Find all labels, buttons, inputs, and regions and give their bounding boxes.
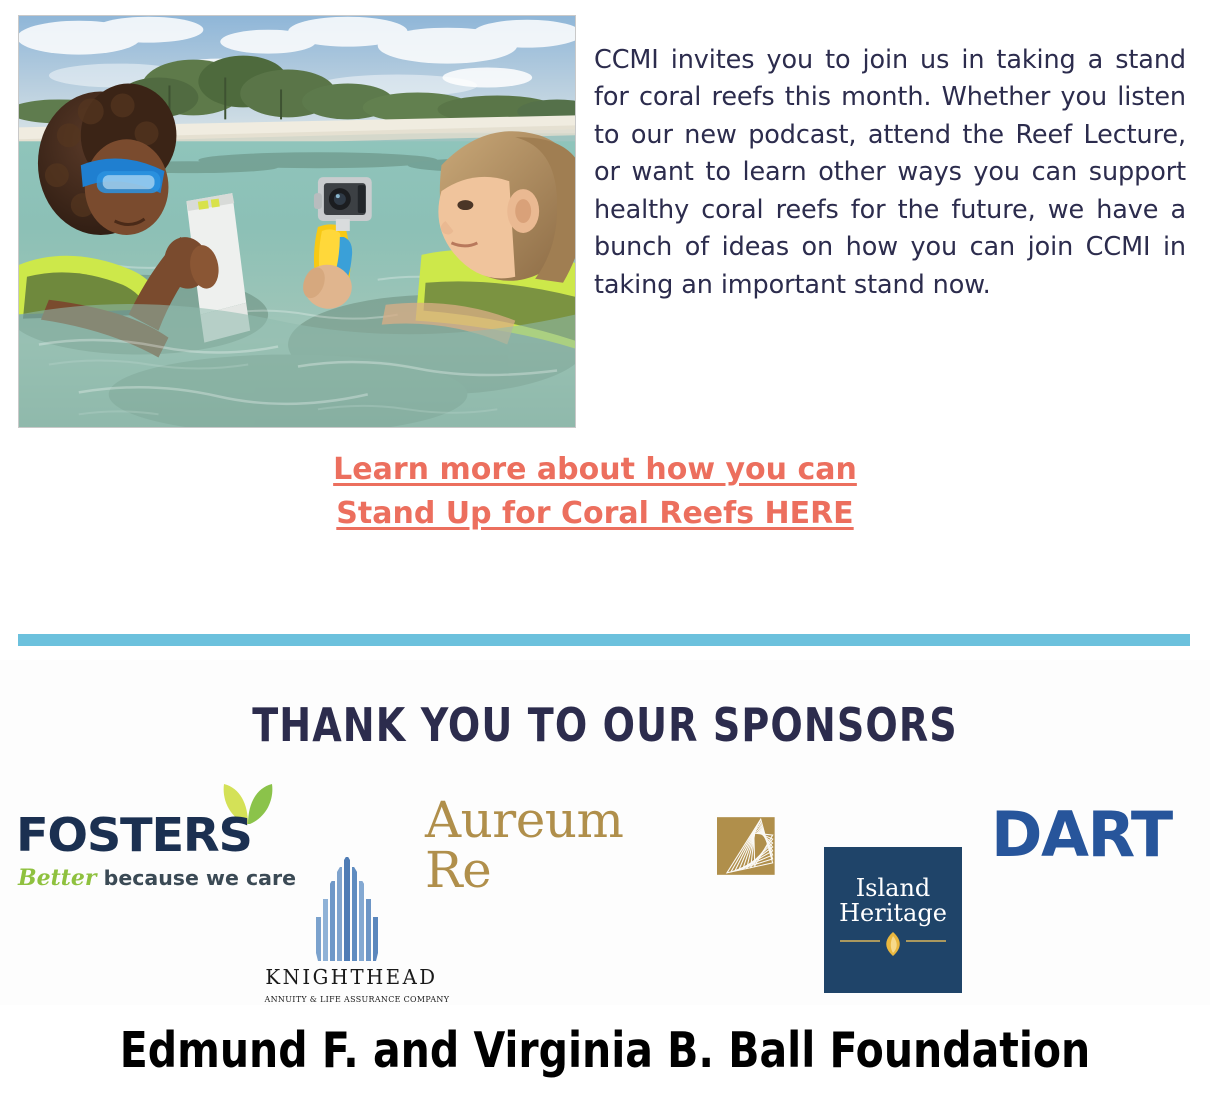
section-divider: [18, 634, 1190, 646]
aureum-re-square-icon: [717, 817, 775, 875]
sponsor-logo-island-heritage[interactable]: Island Heritage: [824, 847, 962, 993]
sponsor-logo-fosters[interactable]: FOSTERS Better because we care: [16, 782, 296, 902]
knighthead-subtitle: ANNUITY & LIFE ASSURANCE COMPANY: [265, 994, 430, 1004]
sponsors-heading: THANK YOU TO OUR SPONSORS: [48, 698, 1161, 752]
cta-link-container: Learn more about how you can Stand Up fo…: [0, 448, 1190, 536]
sponsors-panel: THANK YOU TO OUR SPONSORS FOSTERS Better…: [0, 660, 1210, 1005]
island-heritage-wordmark-line1: Island: [856, 876, 931, 901]
knighthead-wordmark: KNIGHTHEAD: [265, 965, 428, 989]
newsletter-top-section: CCMI invites you to join us in taking a …: [0, 0, 1210, 620]
aureum-re-wordmark: Aureum Re: [425, 795, 703, 895]
foundation-name: Edmund F. and Virginia B. Ball Foundatio…: [42, 1022, 1167, 1079]
fosters-wordmark: FOSTERS: [16, 808, 252, 862]
snorkelers-photo: [18, 15, 576, 428]
stand-up-for-coral-reefs-link[interactable]: Learn more about how you can Stand Up fo…: [295, 448, 895, 536]
sponsor-logo-aureum-re[interactable]: Aureum Re: [425, 805, 775, 885]
intro-paragraph: CCMI invites you to join us in taking a …: [594, 42, 1186, 305]
sponsor-logo-knighthead[interactable]: KNIGHTHEAD ANNUITY & LIFE ASSURANCE COMP…: [262, 855, 432, 1045]
knighthead-building-icon: [308, 855, 386, 963]
fosters-tagline-accent: Better: [18, 865, 97, 891]
island-heritage-flame-icon: [838, 932, 948, 958]
photo-illustration: [19, 16, 575, 427]
fosters-tagline: Better because we care: [18, 865, 296, 891]
island-heritage-wordmark-line2: Heritage: [839, 901, 947, 926]
island-heritage-inner: Island Heritage: [824, 847, 962, 993]
sponsor-logo-dart[interactable]: DART: [991, 798, 1172, 871]
